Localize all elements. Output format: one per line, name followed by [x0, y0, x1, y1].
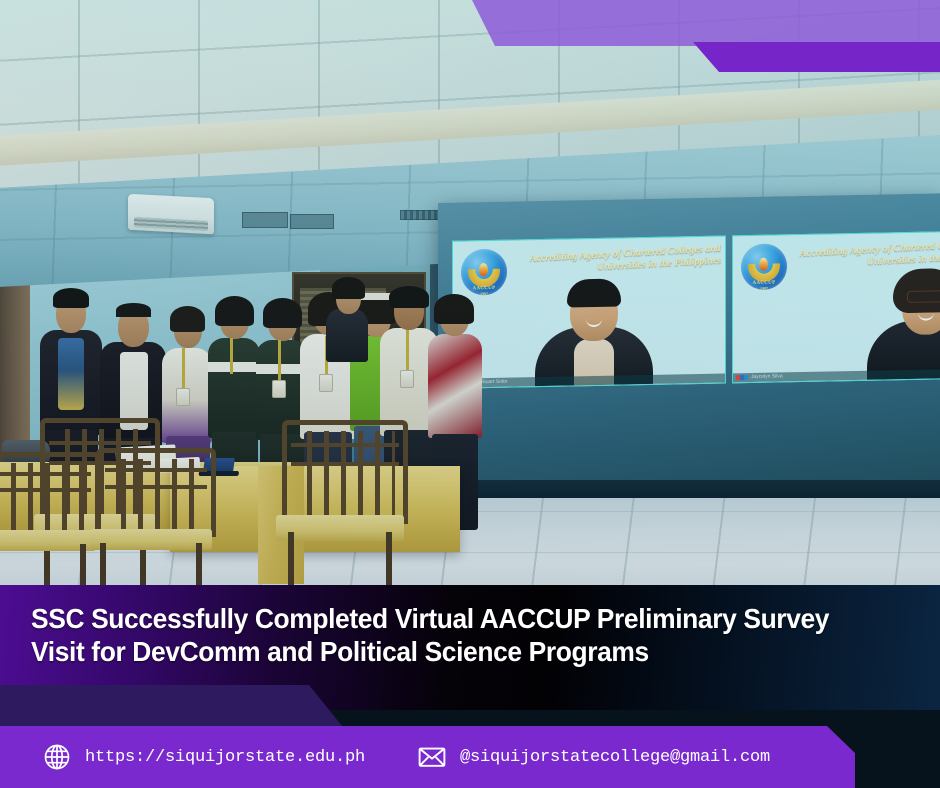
video-tile-namebar: Kim Stuart Sotto: [453, 373, 725, 387]
video-participant: [519, 274, 669, 387]
chair-leg: [386, 532, 392, 590]
video-tile-namebar: Jaycelyn Silva: [733, 368, 940, 382]
chair-seat: [90, 529, 212, 551]
video-tile: AACCUP 1987 Accrediting Agency of Charte…: [452, 235, 726, 388]
footer-website[interactable]: https://siquijorstate.edu.ph: [42, 726, 365, 788]
chair-rail: [105, 468, 207, 472]
chiavari-chair: [0, 452, 90, 592]
logo-year: 1987: [741, 285, 787, 291]
email-address-label: @siquijorstatecollege@gmail.com: [460, 748, 770, 767]
poster-canvas: AACCUP 1987 Accrediting Agency of Charte…: [0, 0, 940, 788]
aaccup-logo-icon: AACCUP 1987: [741, 243, 787, 290]
envelope-icon: [417, 742, 447, 772]
video-tile: AACCUP 1987 Accrediting Agency of Charte…: [732, 230, 940, 383]
chair-back: [282, 420, 408, 524]
contact-footer: https://siquijorstate.edu.ph @siquijorst…: [0, 726, 940, 788]
logo-flame-shape: [759, 258, 768, 271]
video-participant: [851, 259, 940, 380]
footer-email[interactable]: @siquijorstatecollege@gmail.com: [417, 726, 770, 788]
ceiling-vent: [290, 214, 334, 229]
chair-leg: [288, 532, 294, 590]
chair-seat: [276, 515, 404, 541]
chair-rail: [49, 441, 151, 445]
participant-hair: [567, 278, 621, 307]
participant-glasses: [907, 290, 940, 303]
air-conditioner: [128, 194, 214, 235]
logo-year: 1987: [461, 291, 507, 297]
participant-name: Jaycelyn Silva: [751, 373, 783, 380]
video-tile-heading: Accrediting Agency of Chartered Colleges…: [515, 243, 722, 278]
aaccup-logo-icon: AACCUP 1987: [461, 249, 507, 296]
chair-rail: [0, 472, 91, 476]
page-title: SSC Successfully Completed Virtual AACCU…: [31, 602, 865, 668]
logo-flame-shape: [479, 263, 488, 276]
globe-icon: [42, 742, 72, 772]
chiavari-chair: [282, 420, 398, 590]
event-photo: AACCUP 1987 Accrediting Agency of Charte…: [0, 0, 940, 592]
projection-screen: AACCUP 1987 Accrediting Agency of Charte…: [438, 193, 940, 491]
reaction-icons: [736, 375, 748, 380]
ceiling-vent: [242, 212, 288, 228]
chair-rail: [105, 485, 207, 489]
chair-rail: [291, 462, 399, 466]
website-url-label: https://siquijorstate.edu.ph: [85, 748, 365, 767]
chair-rail: [291, 443, 399, 447]
chair-back: [96, 448, 216, 537]
chair-back: [0, 452, 100, 538]
chiavari-chair: [96, 448, 206, 592]
chair-rail: [0, 488, 91, 492]
